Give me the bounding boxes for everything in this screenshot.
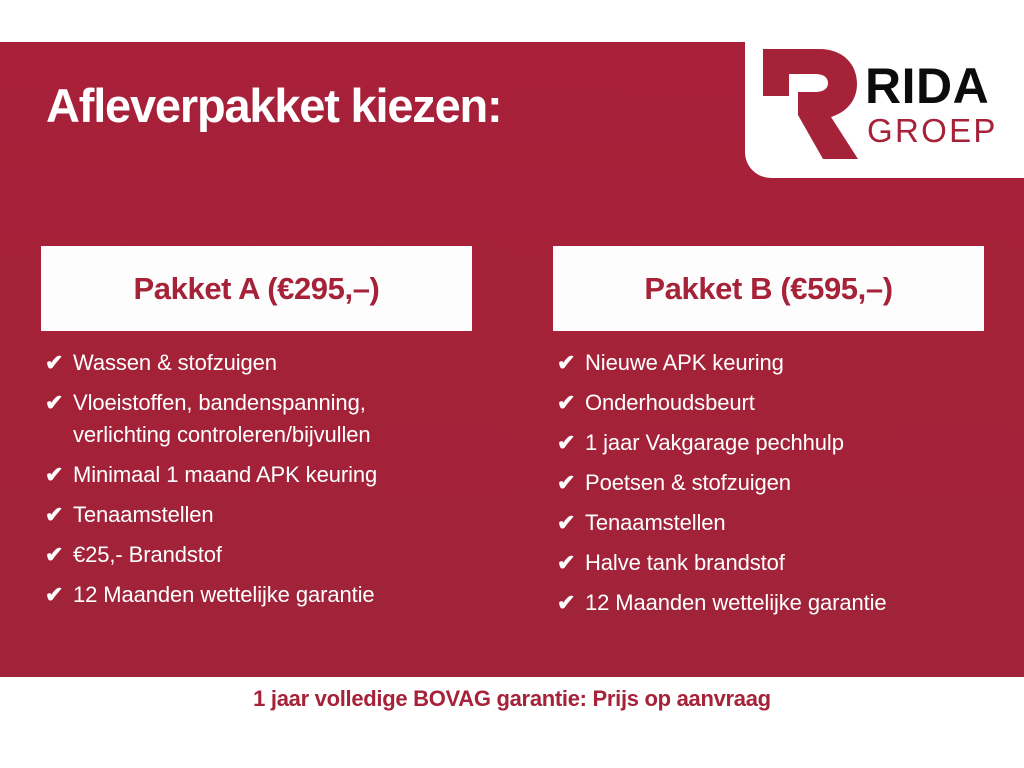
- feature-label: Minimaal 1 maand APK keuring: [73, 459, 377, 491]
- check-icon: ✔: [557, 347, 585, 379]
- feature-label: 12 Maanden wettelijke garantie: [585, 587, 887, 619]
- list-item: ✔ Onderhoudsbeurt: [557, 387, 984, 419]
- feature-label: 1 jaar Vakgarage pechhulp: [585, 427, 844, 459]
- list-item: ✔ Vloeistoffen, bandenspanning, verlicht…: [45, 387, 472, 451]
- list-item: ✔ Tenaamstellen: [557, 507, 984, 539]
- list-item: ✔ €25,- Brandstof: [45, 539, 472, 571]
- logo-wordmark: RIDA GROEP: [865, 61, 998, 147]
- check-icon: ✔: [45, 459, 73, 491]
- check-icon: ✔: [557, 507, 585, 539]
- list-item: ✔ Minimaal 1 maand APK keuring: [45, 459, 472, 491]
- list-item: ✔ 1 jaar Vakgarage pechhulp: [557, 427, 984, 459]
- feature-label: Nieuwe APK keuring: [585, 347, 784, 379]
- check-icon: ✔: [45, 499, 73, 531]
- list-item: ✔ Halve tank brandstof: [557, 547, 984, 579]
- check-icon: ✔: [557, 587, 585, 619]
- check-icon: ✔: [557, 547, 585, 579]
- check-icon: ✔: [45, 347, 73, 379]
- check-icon: ✔: [45, 387, 73, 419]
- list-item: ✔ 12 Maanden wettelijke garantie: [45, 579, 472, 611]
- check-icon: ✔: [45, 539, 73, 571]
- package-b-title: Pakket B (€595,–): [644, 271, 892, 307]
- feature-label: 12 Maanden wettelijke garantie: [73, 579, 375, 611]
- list-item: ✔ Nieuwe APK keuring: [557, 347, 984, 379]
- check-icon: ✔: [557, 387, 585, 419]
- feature-label: Poetsen & stofzuigen: [585, 467, 791, 499]
- feature-label: Onderhoudsbeurt: [585, 387, 755, 419]
- feature-label: Wassen & stofzuigen: [73, 347, 277, 379]
- check-icon: ✔: [45, 579, 73, 611]
- package-column-b: Pakket B (€595,–) ✔ Nieuwe APK keuring ✔…: [553, 246, 984, 627]
- list-item: ✔ Poetsen & stofzuigen: [557, 467, 984, 499]
- feature-label: Halve tank brandstof: [585, 547, 785, 579]
- package-a-header-card[interactable]: Pakket A (€295,–): [41, 246, 472, 331]
- package-column-a: Pakket A (€295,–) ✔ Wassen & stofzuigen …: [41, 246, 472, 619]
- list-item: ✔ Tenaamstellen: [45, 499, 472, 531]
- package-a-feature-list: ✔ Wassen & stofzuigen ✔ Vloeistoffen, ba…: [41, 331, 472, 611]
- feature-label: Tenaamstellen: [585, 507, 726, 539]
- rida-r-mark-icon: [757, 45, 859, 163]
- logo-panel: RIDA GROEP: [745, 30, 1024, 178]
- package-a-title: Pakket A (€295,–): [134, 271, 380, 307]
- check-icon: ✔: [557, 467, 585, 499]
- feature-label: Vloeistoffen, bandenspanning, verlichtin…: [73, 387, 465, 451]
- slide-root: Afleverpakket kiezen: RIDA GROEP Pakket …: [0, 0, 1024, 768]
- page-title: Afleverpakket kiezen:: [46, 78, 501, 133]
- list-item: ✔ Wassen & stofzuigen: [45, 347, 472, 379]
- feature-label: Tenaamstellen: [73, 499, 214, 531]
- check-icon: ✔: [557, 427, 585, 459]
- feature-label: €25,- Brandstof: [73, 539, 222, 571]
- logo-rida-text: RIDA: [865, 61, 998, 111]
- package-b-header-card[interactable]: Pakket B (€595,–): [553, 246, 984, 331]
- list-item: ✔ 12 Maanden wettelijke garantie: [557, 587, 984, 619]
- logo-groep-text: GROEP: [867, 114, 998, 147]
- footer-guarantee-text: 1 jaar volledige BOVAG garantie: Prijs o…: [0, 686, 1024, 712]
- package-b-feature-list: ✔ Nieuwe APK keuring ✔ Onderhoudsbeurt ✔…: [553, 331, 984, 619]
